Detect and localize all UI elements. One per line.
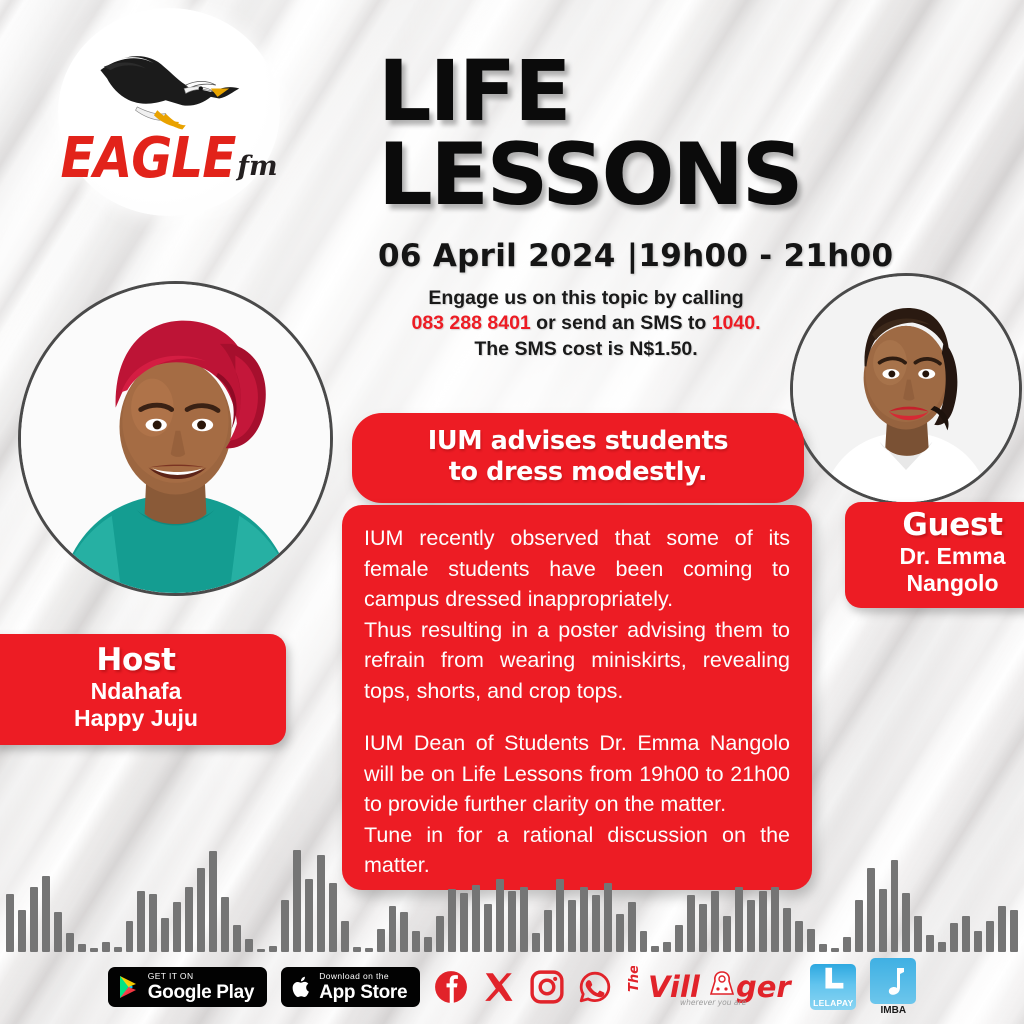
imba-music-note-icon [870,964,916,1004]
waveform-bar [233,925,241,952]
host-name-badge: Host Ndahafa Happy Juju [0,634,286,745]
waveform-bar [807,929,815,952]
waveform-bar [950,923,958,952]
villager-logo: The Vill ger wherever you are [626,967,796,1007]
waveform-bar [628,902,636,952]
waveform-bar [317,855,325,952]
topic-headline-banner: IUM advises students to dress modestly. [352,413,804,503]
waveform-bar [675,925,683,952]
instagram-icon[interactable] [530,970,564,1004]
waveform-bar [687,895,695,952]
villager-wordmark: The Vill ger wherever you are [626,966,796,1008]
waveform-bar [161,918,169,952]
google-play-badge[interactable]: GET IT ON Google Play [108,967,268,1007]
waveform-bar [914,916,922,952]
waveform-bar [6,894,14,952]
waveform-bar [1010,910,1018,952]
logo-suffix: fm [237,151,277,182]
whatsapp-icon[interactable] [578,970,612,1004]
footer-bar: GET IT ON Google Play Download on the Ap… [0,950,1024,1024]
svg-text:wherever you are: wherever you are [680,998,747,1007]
x-twitter-icon[interactable] [482,970,516,1004]
waveform-bar [867,868,875,952]
engage-line-3: The SMS cost is N$1.50. [376,337,796,362]
app-store-label: App Store [319,983,407,1002]
waveform-bar [568,900,576,953]
apple-icon [292,975,312,999]
guest-name-line-2: Nangolo [857,570,1024,596]
facebook-icon[interactable] [434,970,468,1004]
title-line-2: LESSONS [378,135,978,216]
guest-role-label: Guest [857,509,1024,542]
waveform-bar [580,887,588,952]
waveform-bar [185,887,193,952]
waveform-bar [544,910,552,952]
waveform-bar [986,921,994,953]
guest-name-badge: Guest Dr. Emma Nangolo [845,502,1024,608]
waveform-bar [209,851,217,952]
lelapay-partner: LELAPAY [810,964,856,1010]
waveform-bar [448,889,456,952]
waveform-bar [460,893,468,952]
lelapay-mark-icon [810,964,856,998]
waveform-bar [879,889,887,952]
imba-logo [870,958,916,1004]
waveform-bar [30,887,38,952]
waveform-bar [18,910,26,952]
waveform-bar [472,885,480,952]
body-paragraph-2: Thus resulting in a poster advising them… [364,615,790,707]
host-portrait-illustration [21,284,330,593]
sms-shortcode[interactable]: 1040. [712,312,761,334]
waveform-bar [902,893,910,952]
engage-line-2: 083 288 8401 or send an SMS to 1040. [376,311,796,336]
host-role-label: Host [0,644,272,677]
headline-line-1: IUM advises students [370,426,786,457]
waveform-bar [173,902,181,952]
guest-photo [790,273,1022,505]
waveform-bar [711,891,719,952]
waveform-bar [400,912,408,952]
waveform-bar [197,868,205,952]
waveform-bar [604,883,612,952]
app-store-badge[interactable]: Download on the App Store [281,967,420,1007]
logo-wordmark: EAGLE [60,130,235,186]
waveform-bar [496,879,504,953]
waveform-bar [42,876,50,952]
engage-mid-text: or send an SMS to [531,312,712,334]
waveform-bar [54,912,62,952]
audio-waveform-decoration [0,847,1024,952]
call-phone-number[interactable]: 083 288 8401 [411,312,530,334]
article-body-panel: IUM recently observed that some of its f… [342,505,812,890]
waveform-bar [412,931,420,952]
waveform-bar [520,887,528,952]
waveform-bar [389,906,397,952]
eagle-fm-logo: EAGLE fm [58,8,280,216]
waveform-bar [149,894,157,952]
waveform-bar [508,891,516,952]
broadcast-datetime: 06 April 2024 |19h00 - 21h00 [378,238,978,274]
waveform-bar [783,908,791,952]
host-name-line-2: Happy Juju [0,705,272,731]
host-name-line-1: Ndahafa [0,678,272,704]
waveform-bar [747,900,755,953]
engage-line-1: Engage us on this topic by calling [376,286,796,311]
guest-portrait-illustration [793,276,1019,502]
flying-eagle-icon [84,45,254,137]
imba-label: IMBA [881,1005,907,1016]
body-paragraph-1: IUM recently observed that some of its f… [364,523,790,615]
waveform-bar [221,897,229,952]
waveform-bar [305,879,313,953]
waveform-bar [699,904,707,952]
waveform-bar [640,931,648,952]
title-line-1: LIFE [378,52,978,131]
waveform-bar [341,921,349,953]
waveform-bar [735,887,743,952]
waveform-bar [484,904,492,952]
waveform-bar [126,921,134,953]
waveform-bar [795,921,803,953]
waveform-bar [293,850,301,952]
show-title: LIFE LESSONS 06 April 2024 |19h00 - 21h0… [378,52,978,274]
svg-text:The: The [627,966,642,992]
headline-line-2: to dress modestly. [370,457,786,488]
google-play-small-text: GET IT ON [148,972,255,981]
waveform-bar [616,914,624,952]
app-store-small-text: Download on the [319,972,407,981]
waveform-bar [281,900,289,953]
imba-partner: IMBA [870,958,916,1016]
waveform-bar [556,879,564,953]
poster-canvas: EAGLE fm LIFE LESSONS 06 April 2024 |19h… [0,0,1024,1024]
waveform-bar [377,929,385,952]
engagement-info: Engage us on this topic by calling 083 2… [376,286,796,362]
waveform-bar [759,891,767,952]
lelapay-label: LELAPAY [813,998,853,1010]
google-play-label: Google Play [148,983,255,1002]
waveform-bar [592,895,600,952]
waveform-bar [962,916,970,952]
waveform-bar [436,916,444,952]
body-paragraph-3: IUM Dean of Students Dr. Emma Nangolo wi… [364,728,790,820]
waveform-bar [771,887,779,952]
waveform-bar [974,931,982,952]
paragraph-spacer [364,706,790,728]
host-photo [18,281,333,596]
waveform-bar [891,860,899,952]
waveform-bar [998,906,1006,952]
waveform-bar [137,891,145,952]
guest-name-line-1: Dr. Emma [857,543,1024,569]
waveform-bar [329,883,337,952]
waveform-bar [723,916,731,952]
lelapay-logo: LELAPAY [810,964,856,1010]
google-play-icon [119,975,141,999]
waveform-bar [855,900,863,953]
